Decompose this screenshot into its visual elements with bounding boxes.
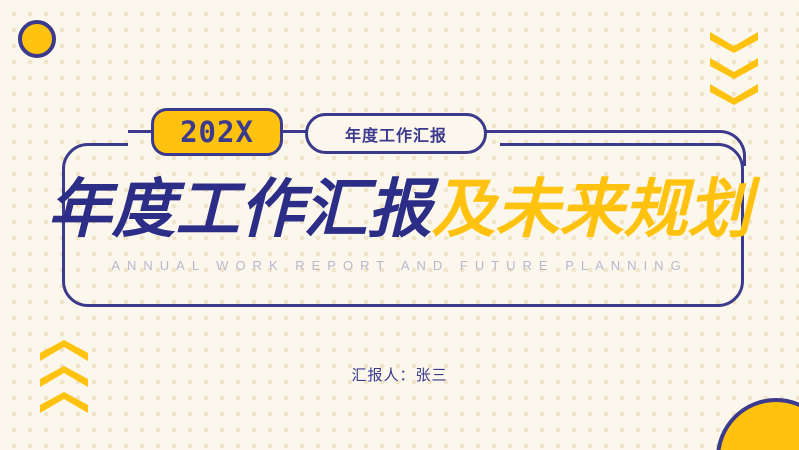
presenter-label: 汇报人：张三: [0, 364, 799, 385]
connector-line-middle: [280, 130, 308, 133]
page-title-accent: 及未来规划: [432, 173, 752, 247]
slide-canvas: 202X 年度工作汇报 年度工作汇报及未来规划 ANNUAL WORK REPO…: [0, 0, 799, 450]
chevron-down-icon-group: [710, 32, 758, 110]
circle-decoration-top-left: [18, 20, 56, 58]
page-subtitle-english: ANNUAL WORK REPORT AND FUTURE PLANNING: [0, 258, 799, 273]
chevron-down-icon: [710, 84, 758, 105]
chevron-up-icon: [40, 340, 88, 361]
page-title-primary: 年度工作汇报: [48, 173, 432, 247]
year-badge: 202X: [151, 108, 283, 156]
circle-decoration-bottom-right: [716, 398, 799, 450]
chevron-up-icon: [40, 392, 88, 413]
connector-elbow-top-right: [710, 130, 746, 166]
connector-line-right: [484, 130, 713, 133]
chevron-down-icon: [710, 32, 758, 53]
chevron-down-icon: [710, 58, 758, 79]
page-title: 年度工作汇报及未来规划: [0, 178, 799, 242]
subtitle-badge: 年度工作汇报: [305, 113, 487, 154]
